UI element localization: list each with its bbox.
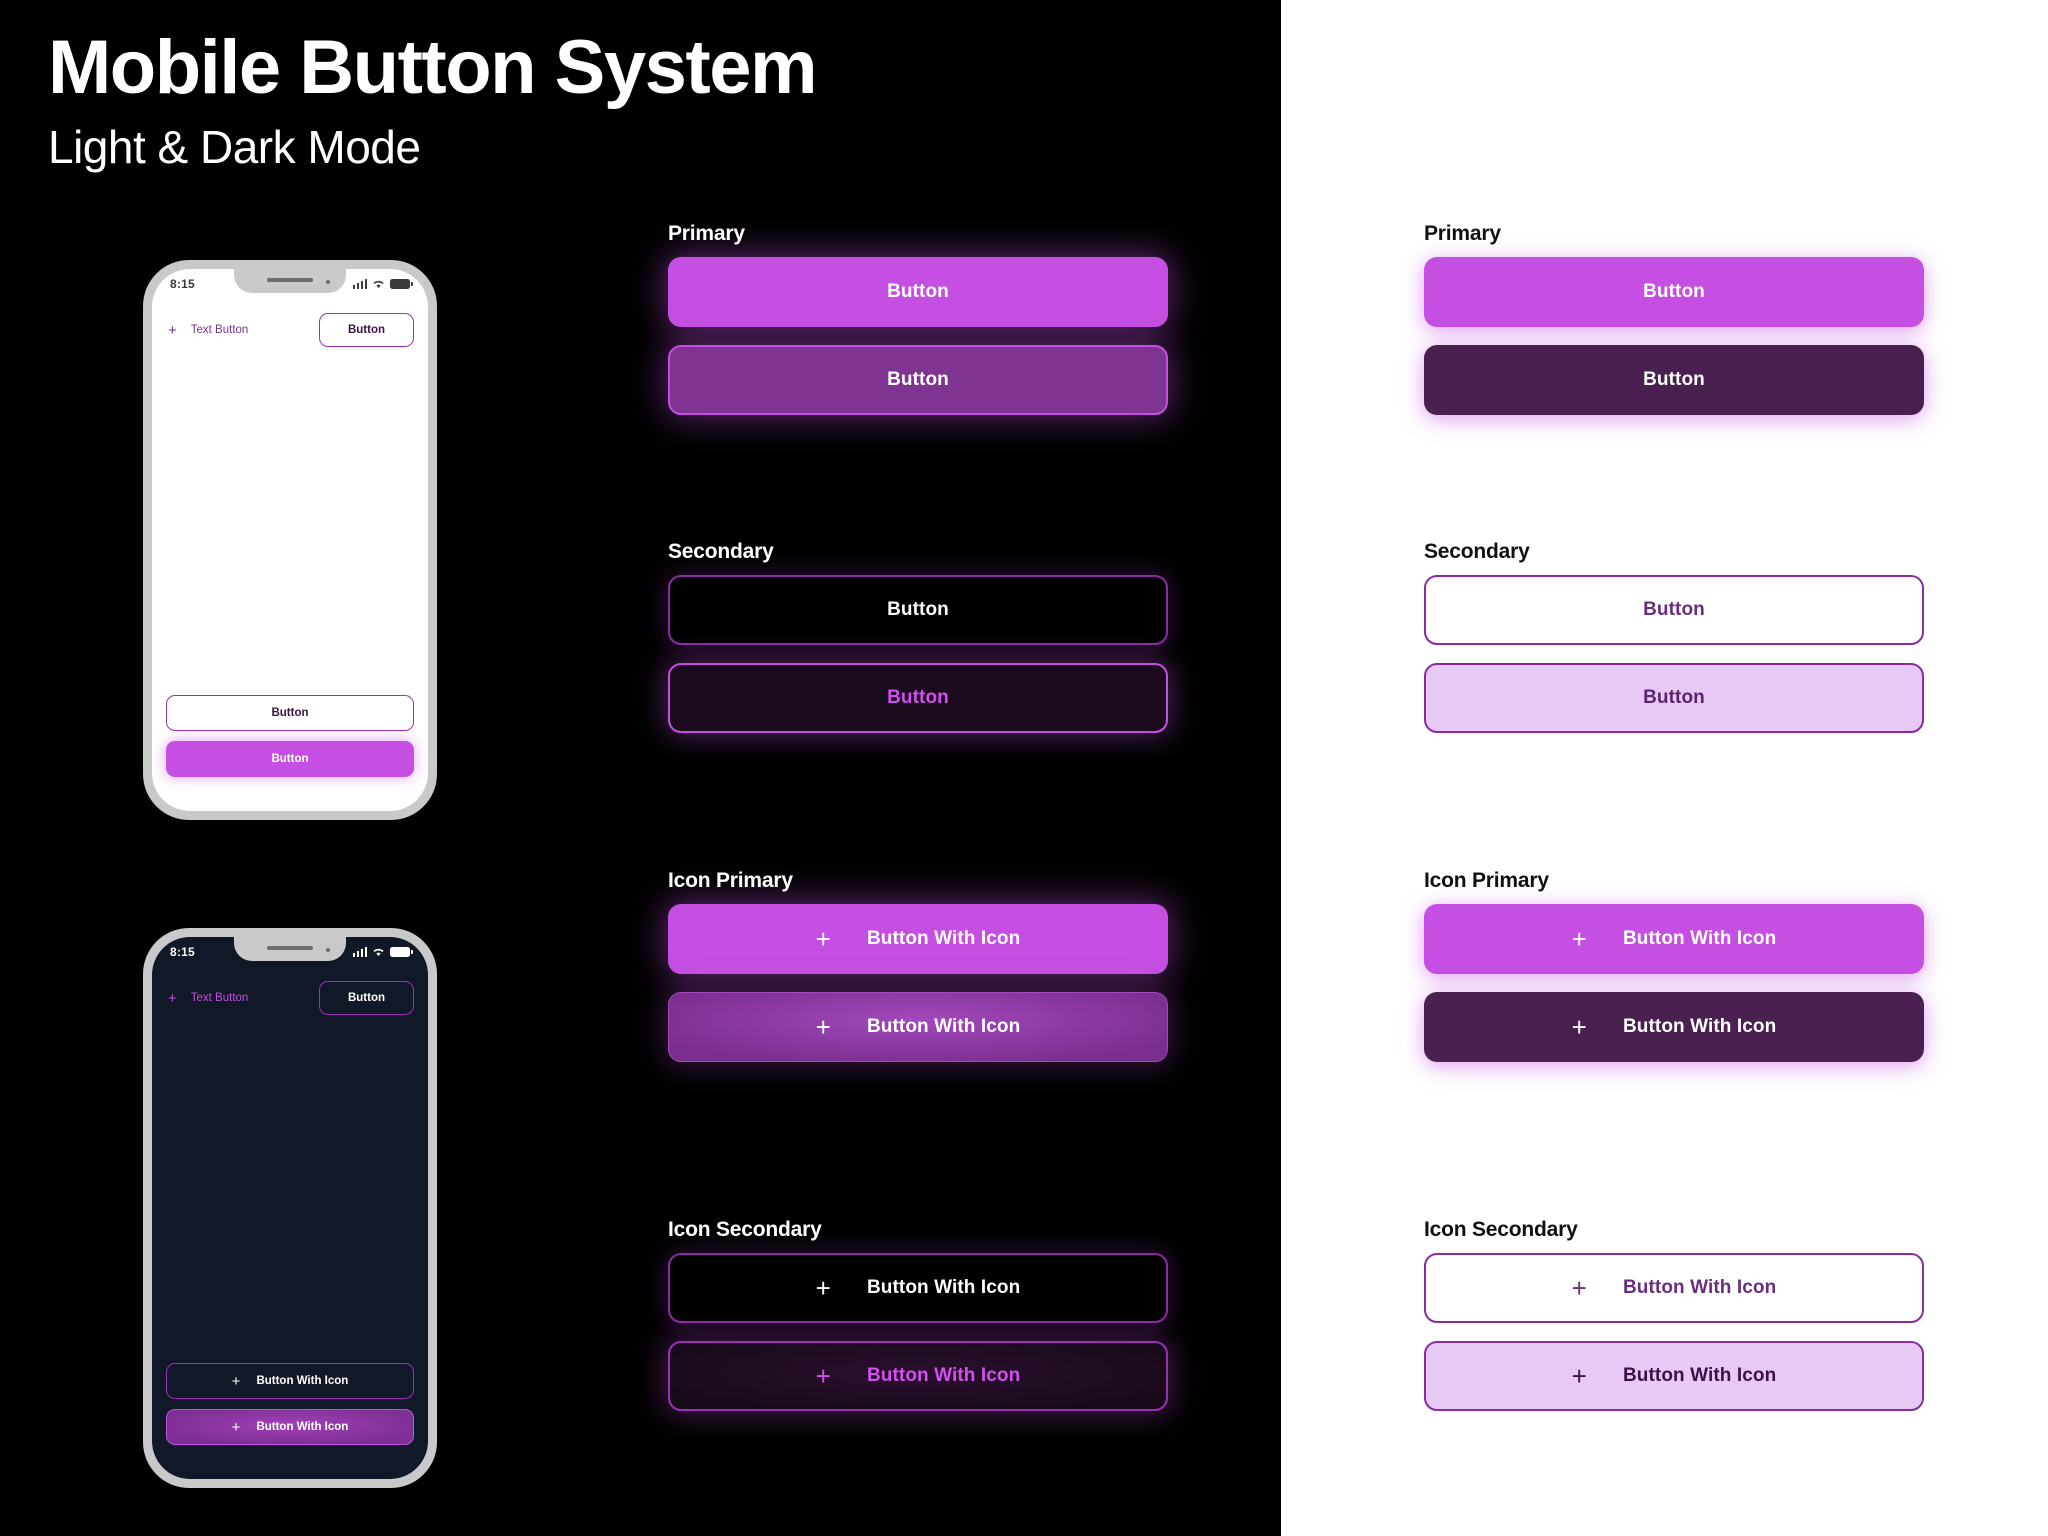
primary-button-pressed-dark[interactable]: Button [668,345,1168,415]
signal-bars-icon [353,947,368,957]
group-label: Primary [1424,222,1924,246]
battery-icon [390,279,410,289]
text-button-label: Text Button [191,324,249,336]
speaker-icon [267,946,313,950]
plus-icon: + [1572,926,1587,952]
phone-screen-dark: 8:15 + Text Button Button [152,937,428,1479]
group-icon-secondary-dark: Icon Secondary + Button With Icon + Butt… [668,1218,1168,1429]
plus-icon: + [816,1363,831,1389]
wifi-icon [372,279,385,289]
phone-topbar-light: + Text Button Button [152,313,428,347]
phone-mockup-dark: 8:15 + Text Button Button [143,928,437,1488]
icon-primary-button-pressed-light[interactable]: + Button With Icon [1424,992,1924,1062]
phone-outline-button-light[interactable]: Button [166,695,414,731]
primary-button-default-dark[interactable]: Button [668,257,1168,327]
signal-bars-icon [353,279,368,289]
group-icon-secondary-light: Icon Secondary + Button With Icon + Butt… [1424,1218,1924,1429]
plus-icon: + [1572,1014,1587,1040]
plus-icon: + [816,926,831,952]
phone-outline-icon-button-dark[interactable]: + Button With Icon [166,1363,414,1399]
phone-mockup-light: 8:15 + Text Button Button Butt [143,260,437,820]
secondary-button-pressed-light[interactable]: Button [1424,663,1924,733]
icon-secondary-button-default-light[interactable]: + Button With Icon [1424,1253,1924,1323]
topbar-outline-button-light[interactable]: Button [319,313,414,347]
plus-icon: + [232,1374,241,1389]
topbar-outline-button-dark[interactable]: Button [319,981,414,1015]
status-icons [353,947,411,957]
status-time: 8:15 [170,945,195,959]
button-label: Button With Icon [867,1277,1020,1299]
secondary-button-pressed-dark[interactable]: Button [668,663,1168,733]
status-icons [353,279,411,289]
group-primary-dark: Primary Button Button [668,222,1168,433]
speaker-icon [267,278,313,282]
button-label: Button With Icon [1623,928,1776,950]
group-label: Icon Primary [1424,869,1924,893]
heading-block: Mobile Button System Light & Dark Mode [48,30,816,174]
plus-icon: + [816,1014,831,1040]
battery-icon [390,947,410,957]
secondary-button-default-light[interactable]: Button [1424,575,1924,645]
camera-icon [326,280,330,284]
phone-topbar-dark: + Text Button Button [152,981,428,1015]
plus-icon: + [168,323,177,338]
secondary-button-default-dark[interactable]: Button [668,575,1168,645]
plus-icon: + [1572,1363,1587,1389]
button-label: Button With Icon [1623,1016,1776,1038]
design-system-canvas: Mobile Button System Light & Dark Mode 8… [0,0,2048,1536]
icon-primary-button-pressed-dark[interactable]: + Button With Icon [668,992,1168,1062]
icon-secondary-button-pressed-dark[interactable]: + Button With Icon [668,1341,1168,1411]
status-time: 8:15 [170,277,195,291]
button-label: Button With Icon [1623,1277,1776,1299]
page-subtitle: Light & Dark Mode [48,120,816,174]
page-title: Mobile Button System [48,30,816,106]
primary-button-default-light[interactable]: Button [1424,257,1924,327]
phone-bottom-actions-light: Button Button [166,695,414,777]
text-button-label: Text Button [191,992,249,1004]
plus-icon: + [816,1275,831,1301]
icon-secondary-button-pressed-light[interactable]: + Button With Icon [1424,1341,1924,1411]
phone-button-label: Button With Icon [256,1375,348,1387]
icon-secondary-button-default-dark[interactable]: + Button With Icon [668,1253,1168,1323]
text-button-dark[interactable]: + Text Button [166,987,250,1010]
primary-button-pressed-light[interactable]: Button [1424,345,1924,415]
icon-primary-button-default-dark[interactable]: + Button With Icon [668,904,1168,974]
group-label: Icon Secondary [668,1218,1168,1242]
phone-bottom-actions-dark: + Button With Icon + Button With Icon [166,1363,414,1445]
button-label: Button With Icon [867,1016,1020,1038]
phone-notch [234,937,346,961]
group-secondary-light: Secondary Button Button [1424,540,1924,751]
plus-icon: + [1572,1275,1587,1301]
group-label: Secondary [1424,540,1924,564]
group-icon-primary-light: Icon Primary + Button With Icon + Button… [1424,869,1924,1080]
plus-icon: + [168,991,177,1006]
text-button-light[interactable]: + Text Button [166,319,250,342]
group-icon-primary-dark: Icon Primary + Button With Icon + Button… [668,869,1168,1080]
phone-notch [234,269,346,293]
button-label: Button With Icon [867,1365,1020,1387]
plus-icon: + [232,1420,241,1435]
group-primary-light: Primary Button Button [1424,222,1924,433]
group-label: Icon Secondary [1424,1218,1924,1242]
icon-primary-button-default-light[interactable]: + Button With Icon [1424,904,1924,974]
phone-screen-light: 8:15 + Text Button Button Butt [152,269,428,811]
group-label: Secondary [668,540,1168,564]
button-label: Button With Icon [867,928,1020,950]
group-label: Icon Primary [668,869,1168,893]
camera-icon [326,948,330,952]
wifi-icon [372,947,385,957]
phone-filled-icon-button-dark[interactable]: + Button With Icon [166,1409,414,1445]
button-label: Button With Icon [1623,1365,1776,1387]
phone-filled-button-light[interactable]: Button [166,741,414,777]
group-secondary-dark: Secondary Button Button [668,540,1168,751]
phone-button-label: Button With Icon [256,1421,348,1433]
group-label: Primary [668,222,1168,246]
